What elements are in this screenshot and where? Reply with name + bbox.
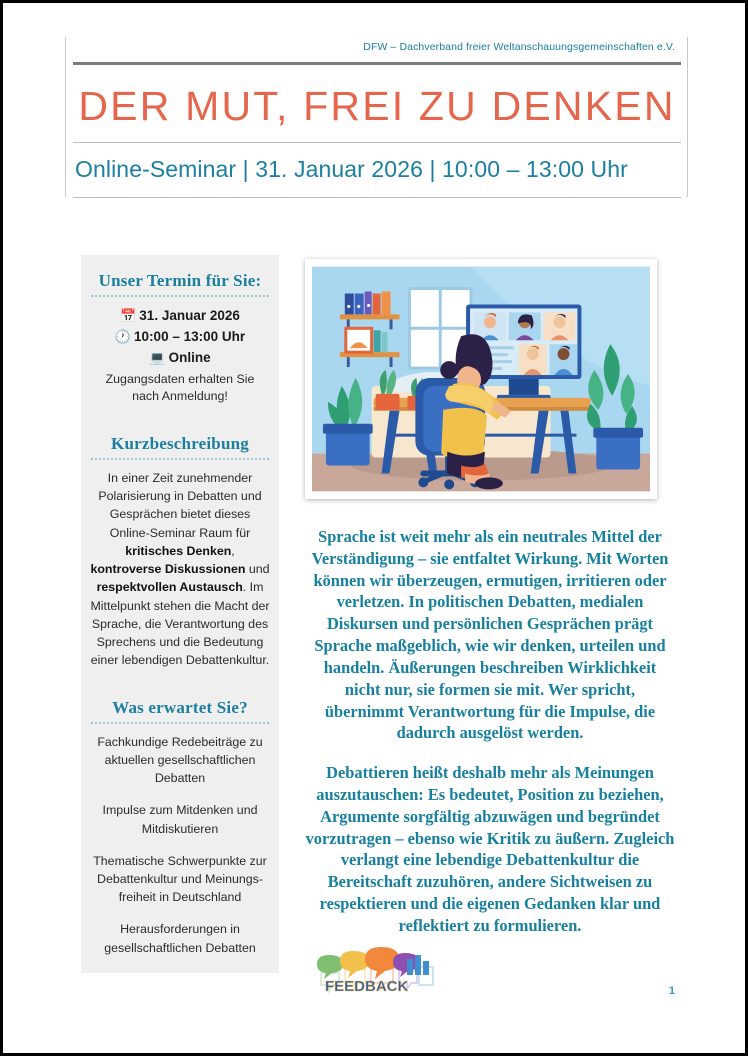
sidebar-gap-1 (89, 406, 271, 432)
video-conference-illustration (312, 266, 650, 492)
body-paragraph: Sprache ist weit mehr als ein neutrales … (305, 526, 675, 744)
list-item: Thematische Schwerpunkte zur Debattenkul… (89, 852, 271, 907)
feedback-graphic: FEEDBACK FEEDBACK (307, 943, 439, 1005)
document-page: DFW – Dachverband freier Weltanschauungs… (0, 0, 748, 1056)
document-header: DFW – Dachverband freier Weltanschauungs… (73, 41, 681, 198)
description-bold1: kritisches Denken (125, 544, 231, 558)
sidebar-description-text: In einer Zeit zunehmender Polarisierung … (89, 469, 271, 670)
feedback-speech-bubbles-icon: FEEDBACK FEEDBACK (307, 943, 439, 1005)
appointment-place: Online (169, 350, 211, 365)
vertical-rule-right (687, 37, 688, 197)
sidebar-heading-description: Kurzbeschreibung (89, 434, 271, 454)
sidebar: Unser Termin für Sie: 📅31. Januar 2026 🕐… (81, 255, 279, 973)
page-title: DER MUT, FREI ZU DENKEN (73, 65, 681, 142)
sidebar-heading-appointment: Unser Termin für Sie: (89, 271, 271, 291)
dotted-divider-expectations (91, 722, 269, 724)
description-bold3: respektvollen Austausch (97, 580, 243, 594)
laptop-icon: 💻 (149, 350, 165, 365)
expectations-list: Fachkundige Redebeiträge zu aktuellen ge… (89, 733, 271, 957)
appointment-date: 31. Januar 2026 (139, 308, 240, 323)
calendar-icon: 📅 (120, 308, 136, 323)
main-body-text: Sprache ist weit mehr als ein neutrales … (299, 526, 681, 937)
list-item: Impulse zum Mitdenken und Mitdiskutieren (89, 801, 271, 837)
vertical-rule-left (65, 37, 66, 197)
dotted-divider-appointment (91, 295, 269, 297)
appointment-time: 10:00 – 13:00 Uhr (134, 329, 245, 344)
body-paragraph: Debattieren heißt deshalb mehr als Meinu… (305, 762, 675, 937)
dotted-divider-description (91, 458, 269, 460)
description-sep2: und (245, 562, 269, 576)
appointment-time-row: 🕐10:00 – 13:00 Uhr (89, 327, 271, 348)
appointment-note: Zugangsdaten erhalten Sie nach Anmeldung… (89, 371, 271, 406)
illustration-frame (305, 259, 657, 499)
page-number: 1 (669, 985, 675, 997)
header-rule-bottom (73, 197, 681, 198)
appointment-place-row: 💻Online (89, 348, 271, 369)
clock-icon: 🕐 (115, 329, 131, 344)
page-inner: DFW – Dachverband freier Weltanschauungs… (3, 3, 745, 1053)
description-bold2: kontroverse Diskussionen (90, 562, 245, 576)
organization-name: DFW – Dachverband freier Weltanschauungs… (73, 41, 681, 53)
appointment-date-row: 📅31. Januar 2026 (89, 306, 271, 327)
seminar-subtitle: Online-Seminar | 31. Januar 2026 | 10:00… (73, 143, 681, 197)
main-column: Sprache ist weit mehr als ein neutrales … (299, 255, 681, 1005)
list-item: Herausforderungen in gesellschaftlichen … (89, 920, 271, 956)
description-sep1: , (231, 544, 234, 558)
sidebar-heading-expectations: Was erwartet Sie? (89, 698, 271, 718)
description-part1: In einer Zeit zunehmender Polarisierung … (98, 471, 261, 540)
appointment-note-line1: Zugangsdaten erhalten Sie (106, 372, 255, 386)
appointment-note-line2: nach Anmeldung! (132, 389, 228, 403)
svg-text:FEEDBACK: FEEDBACK (325, 978, 409, 995)
sidebar-gap-2 (89, 670, 271, 696)
list-item: Fachkundige Redebeiträge zu aktuellen ge… (89, 733, 271, 788)
